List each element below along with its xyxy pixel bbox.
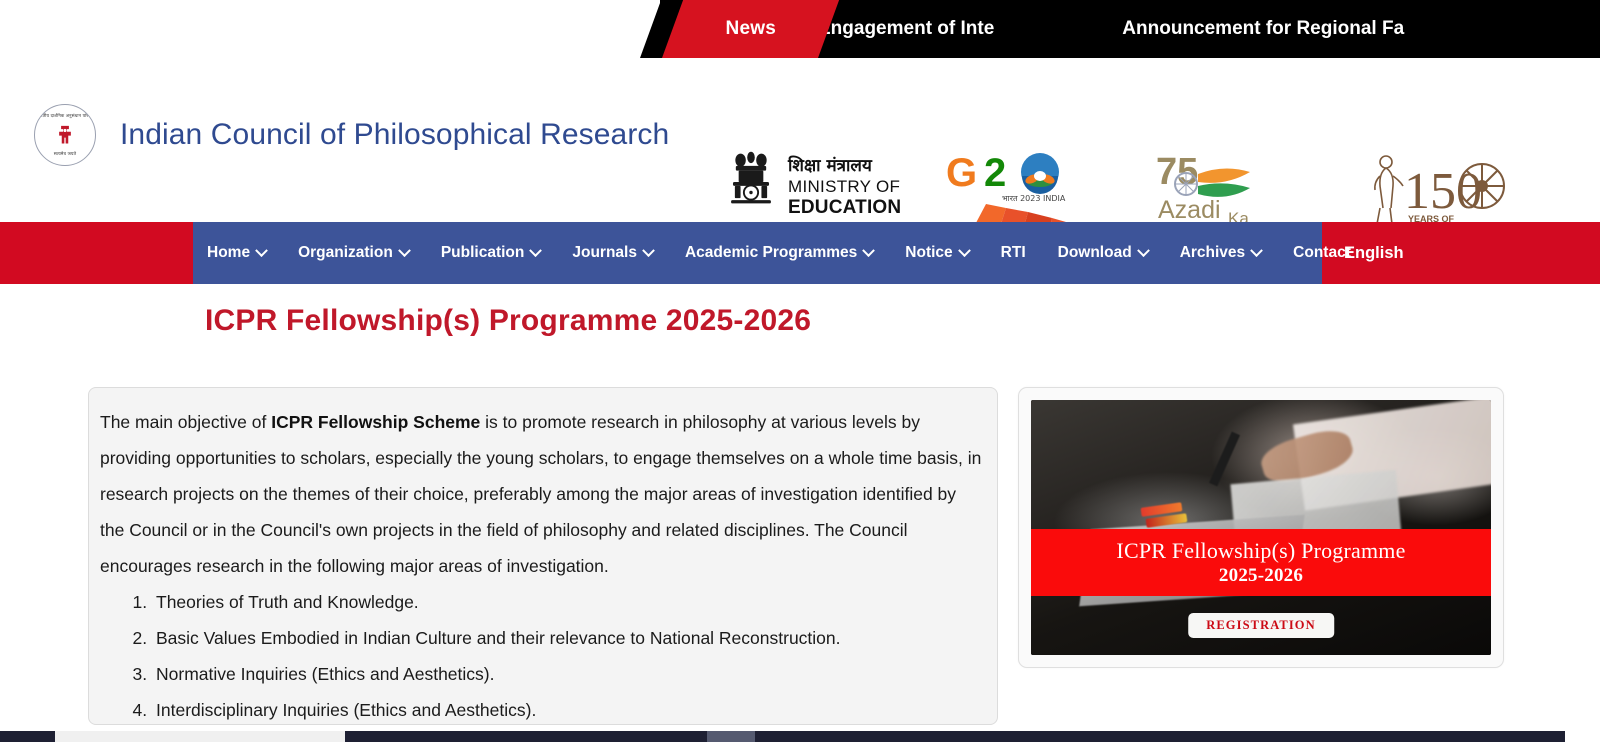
nav-item-organization[interactable]: Organization	[282, 222, 425, 284]
emblem-top-text: भारतीय दार्शनिक अनुसंधान परिषद्	[35, 113, 95, 119]
nav-item-journals-label: Journals	[572, 244, 637, 262]
nav-item-notice[interactable]: Notice	[889, 222, 984, 284]
svg-text:भारत 2023 INDIA: भारत 2023 INDIA	[1002, 194, 1066, 203]
emblem-bottom-text: सत्यमेव जयते	[35, 151, 95, 157]
chevron-down-icon	[642, 244, 655, 257]
fellowship-description-box: The main objective of ICPR Fellowship Sc…	[88, 387, 998, 725]
icpr-emblem-icon: भारतीय दार्शनिक अनुसंधान परिषद् सत्यमेव …	[34, 104, 96, 166]
moe-hindi-label: शिक्षा मंत्रालय	[788, 157, 901, 177]
nav-item-home[interactable]: Home	[193, 222, 282, 284]
nav-item-rti[interactable]: RTI	[985, 222, 1042, 284]
banner-title-line1: ICPR Fellowship(s) Programme	[1116, 537, 1405, 565]
page-root: News Engagement of Inte Announcement for…	[0, 0, 1600, 742]
ticker-item-2[interactable]: Announcement for Regional Fa	[1122, 18, 1404, 40]
nav-item-notice-label: Notice	[905, 244, 952, 262]
header-logo-band: भारतीय दार्शनिक अनुसंधान परिषद् सत्यमेव …	[0, 58, 1600, 222]
chevron-down-icon	[398, 244, 411, 257]
nav-item-download[interactable]: Download	[1042, 222, 1164, 284]
bottom-strip-segment-mid	[707, 731, 755, 742]
language-selector[interactable]: English	[1322, 222, 1404, 284]
site-title: Indian Council of Philosophical Research	[120, 118, 669, 152]
description-part1: The main objective of	[100, 412, 271, 432]
banner-title-band: ICPR Fellowship(s) Programme 2025-2026	[1031, 529, 1491, 597]
site-brand[interactable]: भारतीय दार्शनिक अनुसंधान परिषद् सत्यमेव …	[34, 104, 669, 166]
chevron-down-icon	[529, 244, 542, 257]
svg-text:150: 150	[1404, 163, 1482, 220]
fellowship-banner-card[interactable]: ICPR Fellowship(s) Programme 2025-2026 R…	[1018, 387, 1504, 668]
nav-item-download-label: Download	[1058, 244, 1132, 262]
ministry-of-education-logo: सत्यमेव जयते शिक्षा मंत्रालय MINISTRY OF…	[722, 146, 901, 230]
bottom-strip-segment-light	[55, 731, 345, 742]
list-item: Basic Values Embodied in Indian Culture …	[152, 620, 983, 656]
nav-item-rti-label: RTI	[1001, 244, 1026, 262]
svg-text:75: 75	[1156, 151, 1198, 193]
bottom-strip-segment-white	[1565, 731, 1600, 742]
nav-item-organization-label: Organization	[298, 244, 393, 262]
moe-text-block: शिक्षा मंत्रालय MINISTRY OF EDUCATION	[788, 157, 901, 219]
nav-item-academic-programmes[interactable]: Academic Programmes	[669, 222, 889, 284]
nav-items-container: Home Organization Publication Journals A…	[193, 222, 1322, 284]
chevron-down-icon	[958, 244, 971, 257]
nav-item-publication-label: Publication	[441, 244, 525, 262]
chevron-down-icon	[1137, 244, 1150, 257]
moe-line2: EDUCATION	[788, 197, 901, 219]
icpr-glyph-icon	[52, 122, 78, 148]
news-label-tag: News	[662, 0, 839, 58]
research-areas-list: Theories of Truth and Knowledge. Basic V…	[152, 584, 983, 725]
svg-text:G: G	[946, 151, 977, 195]
chevron-down-icon	[255, 244, 268, 257]
news-ticker-bar: News Engagement of Inte Announcement for…	[0, 0, 1600, 58]
list-item: Interdisciplinary Inquiries (Ethics and …	[152, 692, 983, 725]
nav-item-archives[interactable]: Archives	[1164, 222, 1277, 284]
svg-text:2: 2	[984, 151, 1006, 195]
chevron-down-icon	[1250, 244, 1263, 257]
nav-item-journals[interactable]: Journals	[556, 222, 669, 284]
photo-pen	[1209, 431, 1240, 486]
list-item: Normative Inquiries (Ethics and Aestheti…	[152, 656, 983, 692]
nav-item-archives-label: Archives	[1180, 244, 1245, 262]
list-item: Theories of Truth and Knowledge.	[152, 584, 983, 620]
nav-item-publication[interactable]: Publication	[425, 222, 557, 284]
moe-line1: MINISTRY OF	[788, 177, 901, 197]
description-part2: is to promote research in philosophy at …	[100, 412, 981, 576]
ticker-items: Engagement of Inte Announcement for Regi…	[818, 0, 1532, 58]
nav-item-home-label: Home	[207, 244, 250, 262]
nav-item-academic-programmes-label: Academic Programmes	[685, 244, 857, 262]
page-title: ICPR Fellowship(s) Programme 2025-2026	[205, 304, 811, 338]
bottom-window-strip	[0, 731, 1600, 742]
news-label-text: News	[725, 18, 775, 40]
ticker-item-1[interactable]: Engagement of Inte	[818, 18, 994, 40]
india-state-emblem-icon: सत्यमेव जयते	[722, 146, 780, 230]
description-bold-term: ICPR Fellowship Scheme	[271, 412, 480, 432]
main-navigation-bar: Home Organization Publication Journals A…	[0, 222, 1600, 284]
fellowship-banner: ICPR Fellowship(s) Programme 2025-2026 R…	[1031, 400, 1491, 655]
description-paragraph: The main objective of ICPR Fellowship Sc…	[100, 404, 983, 584]
banner-title-line2: 2025-2026	[1219, 564, 1303, 588]
chevron-down-icon	[862, 244, 875, 257]
registration-button[interactable]: REGISTRATION	[1188, 613, 1334, 638]
